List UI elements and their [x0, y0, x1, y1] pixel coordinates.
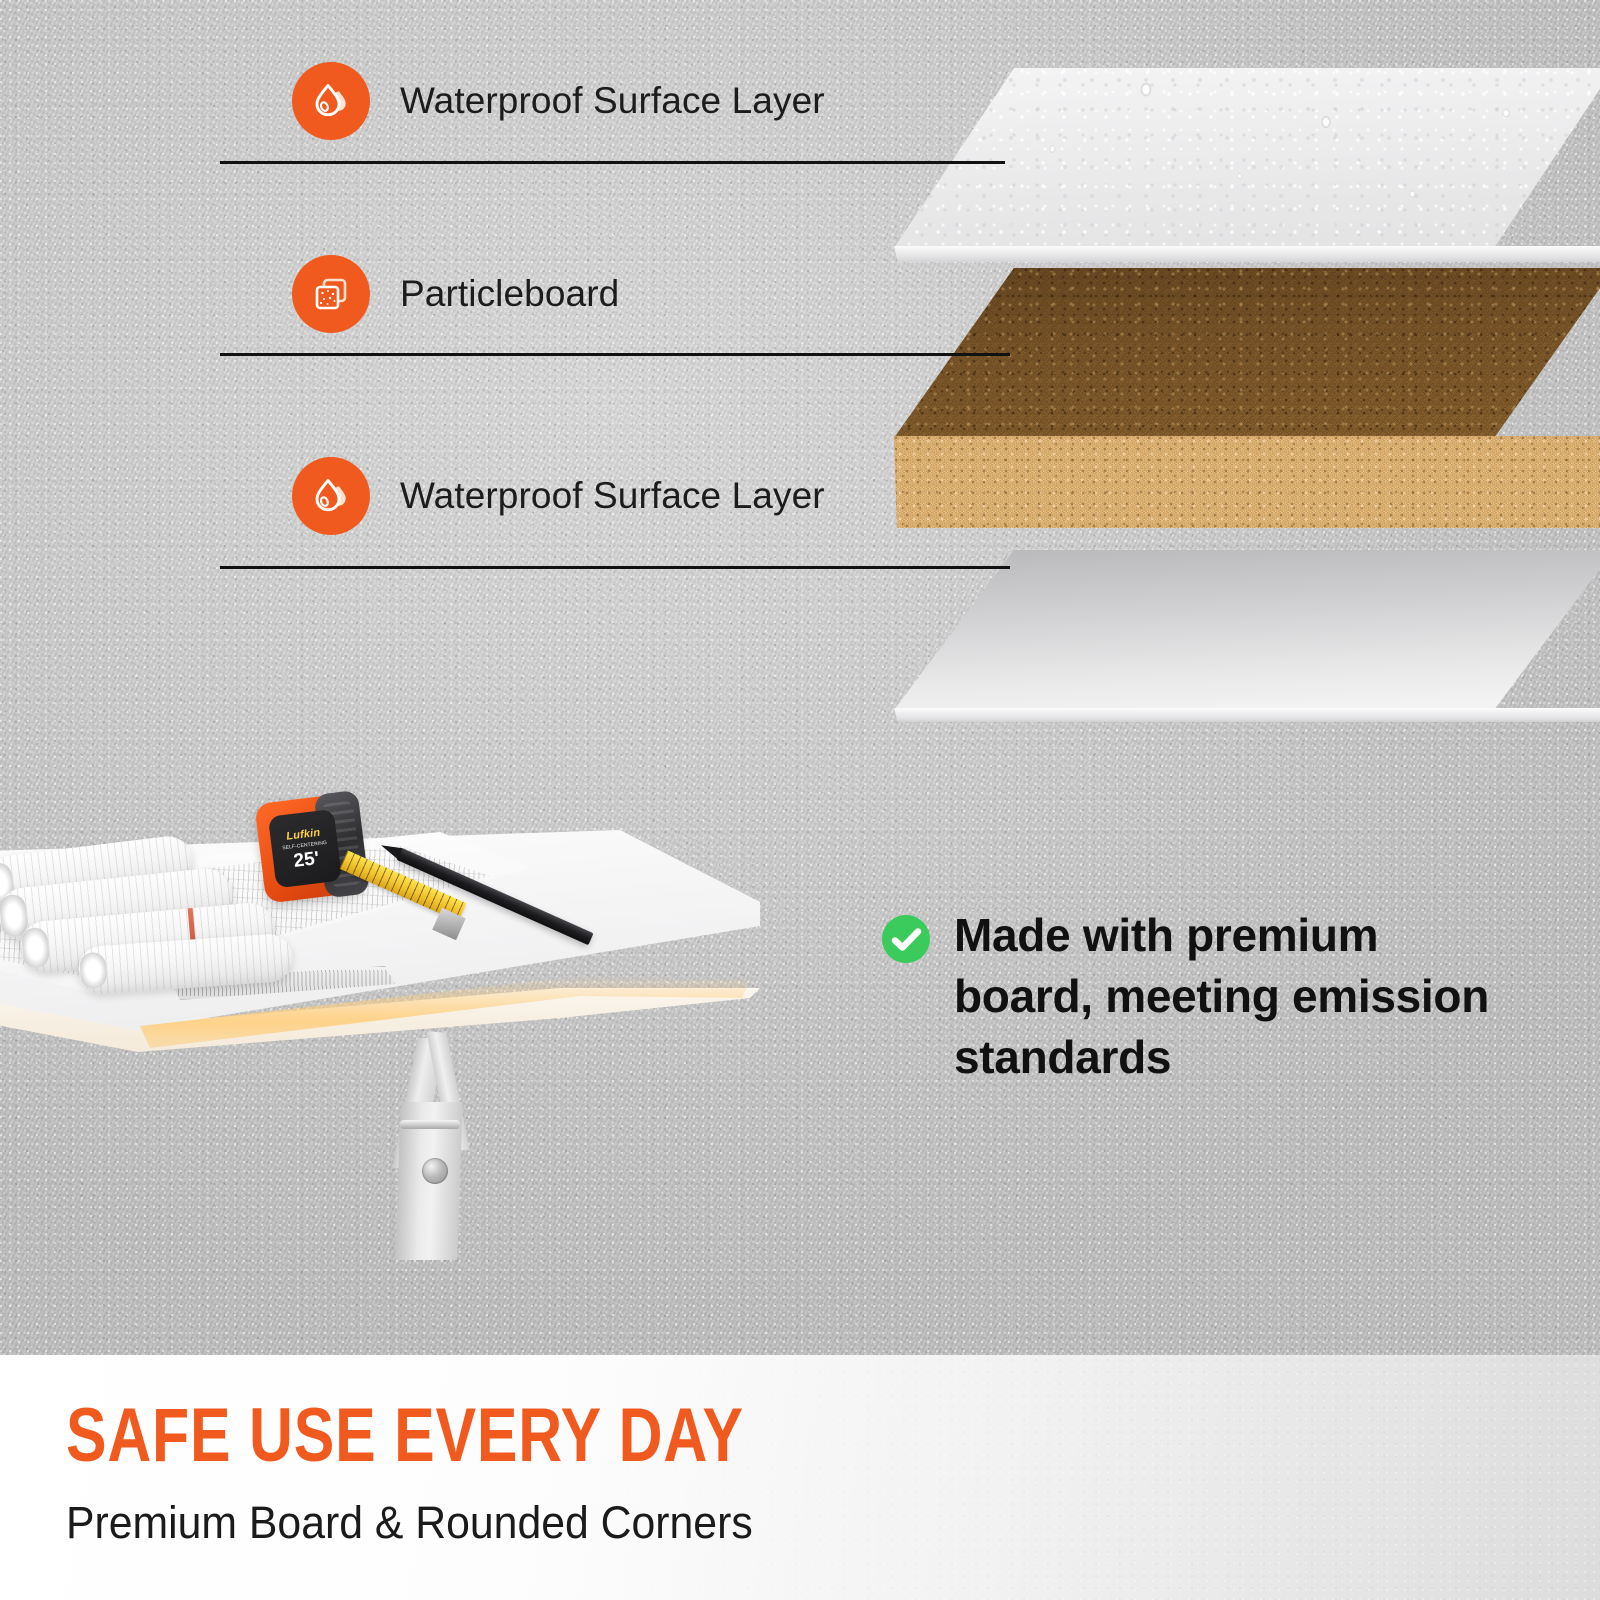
callout-label: Waterproof Surface Layer	[400, 80, 825, 122]
callout-waterproof-bottom: Waterproof Surface Layer	[292, 457, 825, 535]
premium-board-highlight: Made with premium board, meeting emissio…	[880, 905, 1500, 1089]
waterproof-top-layer-edge	[894, 246, 1600, 262]
particleboard-edge-grain	[894, 436, 1600, 528]
waterproof-bottom-layer-edge	[894, 708, 1600, 722]
highlight-text: Made with premium board, meeting emissio…	[954, 905, 1500, 1089]
callout-label: Particleboard	[400, 273, 619, 315]
infographic-stage: Waterproof Surface Layer Particleboard	[0, 0, 1600, 1600]
banner-subtitle: Premium Board & Rounded Corners	[66, 1500, 753, 1545]
callout-particleboard: Particleboard	[292, 255, 619, 333]
table-bracket-hinge	[400, 1120, 460, 1129]
banner-title: SAFE USE EVERY DAY	[66, 1398, 744, 1474]
table-bracket-screw	[422, 1158, 448, 1184]
waterproof-top-layer-face	[894, 68, 1600, 248]
wall-mounted-folding-table-photo: Lufkin SELF-CENTERING 25'	[0, 780, 800, 1300]
callout-waterproof-top: Waterproof Surface Layer	[292, 62, 825, 140]
water-drop-icon	[292, 457, 370, 535]
tape-length-label: 25'	[292, 849, 320, 871]
water-drop-icon	[292, 62, 370, 140]
leader-line-waterproof-top	[220, 161, 1005, 164]
leader-line-particleboard	[220, 353, 1010, 356]
callout-label: Waterproof Surface Layer	[400, 475, 825, 517]
tape-measure-face: Lufkin SELF-CENTERING 25'	[268, 809, 342, 889]
leader-line-waterproof-bottom	[220, 566, 1010, 569]
particleboard-icon	[292, 255, 370, 333]
water-droplets-texture	[894, 68, 1600, 248]
tape-measure: Lufkin SELF-CENTERING 25'	[254, 792, 365, 903]
green-check-icon	[880, 913, 932, 965]
waterproof-bottom-layer-face	[894, 550, 1600, 710]
exploded-board-diagram	[880, 50, 1600, 670]
particleboard-layer-edge	[894, 436, 1600, 528]
